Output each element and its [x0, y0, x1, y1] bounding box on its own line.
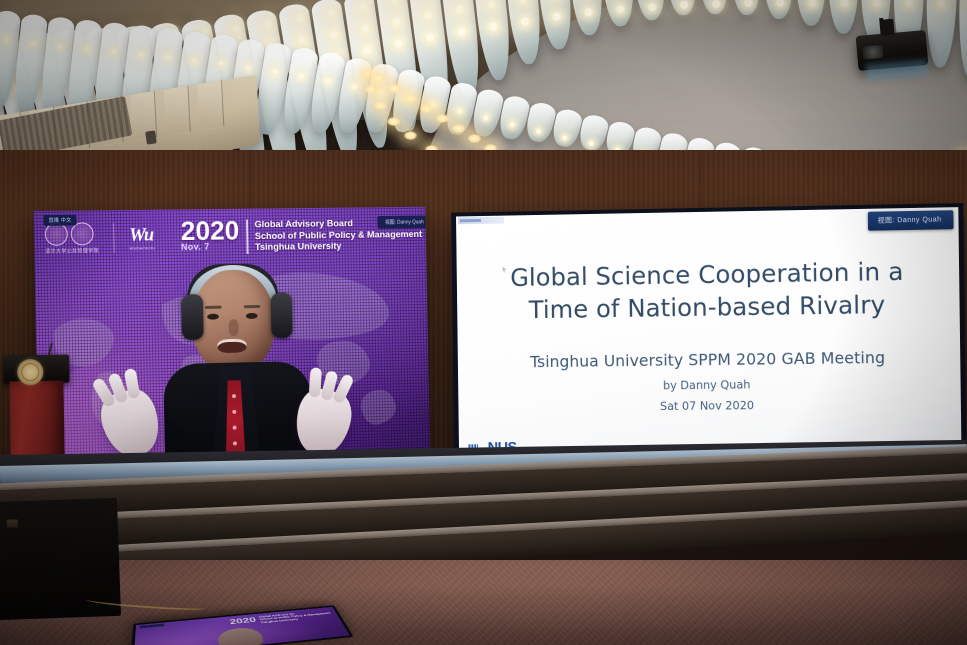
confidence-monitor-speaker: [216, 626, 266, 645]
led-event-line3: Tsinghua University: [255, 240, 422, 254]
partner-logo-sub: WUDAOKOU: [129, 245, 155, 250]
headphone-right-icon: [271, 293, 293, 339]
auditorium-scene: 清华大学公共管理学院 Wu WUDAOKOU 2020 Nov. 7 Globa…: [0, 0, 967, 645]
slide-title: Global Science Cooperation in a Time of …: [457, 254, 960, 327]
ceiling-downlight: [388, 84, 401, 93]
slide-byline: by Danny Quah: [458, 375, 961, 394]
ceiling-lamp: [327, 8, 336, 17]
remote-speaker-video: [145, 263, 333, 464]
sppm-seal-icon: [71, 222, 94, 245]
ceiling-blade: [472, 0, 514, 82]
partner-logo: Wu: [129, 225, 155, 244]
ceiling-lamp: [521, 17, 530, 26]
ceiling-blade: [601, 0, 636, 27]
slide-date: Sat 07 Nov 2020: [458, 396, 961, 415]
ceiling-blade: [957, 0, 967, 80]
slide-surface[interactable]: 视图: Danny Quah Global Science Cooperatio…: [456, 207, 962, 471]
confidence-monitor-year: 2020: [229, 616, 257, 625]
ceiling-blade: [537, 0, 575, 50]
university-emblem-icon: [17, 359, 43, 385]
ceiling-downlight: [420, 104, 433, 113]
logo-divider: [113, 223, 115, 253]
ceiling-blade: [504, 0, 544, 65]
slide-subtitle: Tsinghua University SPPM 2020 GAB Meetin…: [458, 347, 961, 372]
ceiling-downlight: [404, 94, 417, 103]
ceiling-lamp: [648, 2, 657, 11]
ceiling-downlight: [387, 117, 400, 126]
ceiling-blade: [925, 0, 958, 67]
led-header-band: 清华大学公共管理学院 Wu WUDAOKOU 2020 Nov. 7 Globa…: [33, 207, 426, 267]
led-title-divider: [246, 220, 249, 254]
ceiling-downlight: [452, 124, 465, 133]
ceiling-downlight: [468, 134, 481, 143]
slide-title-line2: Time of Nation-based Rivalry: [457, 287, 960, 327]
ceiling-blade: [569, 0, 605, 37]
ceiling-lamp: [363, 46, 372, 55]
tsinghua-seal-icon: [45, 223, 68, 246]
ceiling-lamp: [329, 30, 338, 39]
ceiling-downlight: [372, 74, 385, 83]
confidence-monitor-lines: Global Advisory Bo School of Public Poli…: [258, 609, 333, 624]
ceiling-lamp: [359, 2, 368, 11]
zoom-toolbar-strip[interactable]: [458, 217, 504, 225]
led-stream-badge: 直播 中文: [44, 215, 77, 226]
ceiling-lamp: [264, 19, 273, 28]
led-year: 2020: [181, 219, 240, 244]
tsinghua-logos: 清华大学公共管理学院 Wu WUDAOKOU: [45, 222, 156, 255]
presenter-name-badge: 视图: Danny Quah: [868, 210, 954, 231]
led-institution-label: 清华大学公共管理学院: [45, 247, 99, 255]
ceiling-camera-icon: [145, 130, 157, 144]
led-overlay-presenter-badge: 视图: Danny Quah: [377, 215, 430, 228]
speaker-mouth: [217, 339, 246, 353]
headphone-left-icon: [181, 294, 203, 340]
speaker-nose: [229, 319, 239, 336]
ceiling-downlight: [436, 114, 449, 123]
led-video-wall[interactable]: 清华大学公共管理学院 Wu WUDAOKOU 2020 Nov. 7 Globa…: [33, 207, 430, 465]
ceiling-lamp: [361, 24, 370, 33]
projection-screen[interactable]: 视图: Danny Quah Global Science Cooperatio…: [451, 203, 967, 477]
